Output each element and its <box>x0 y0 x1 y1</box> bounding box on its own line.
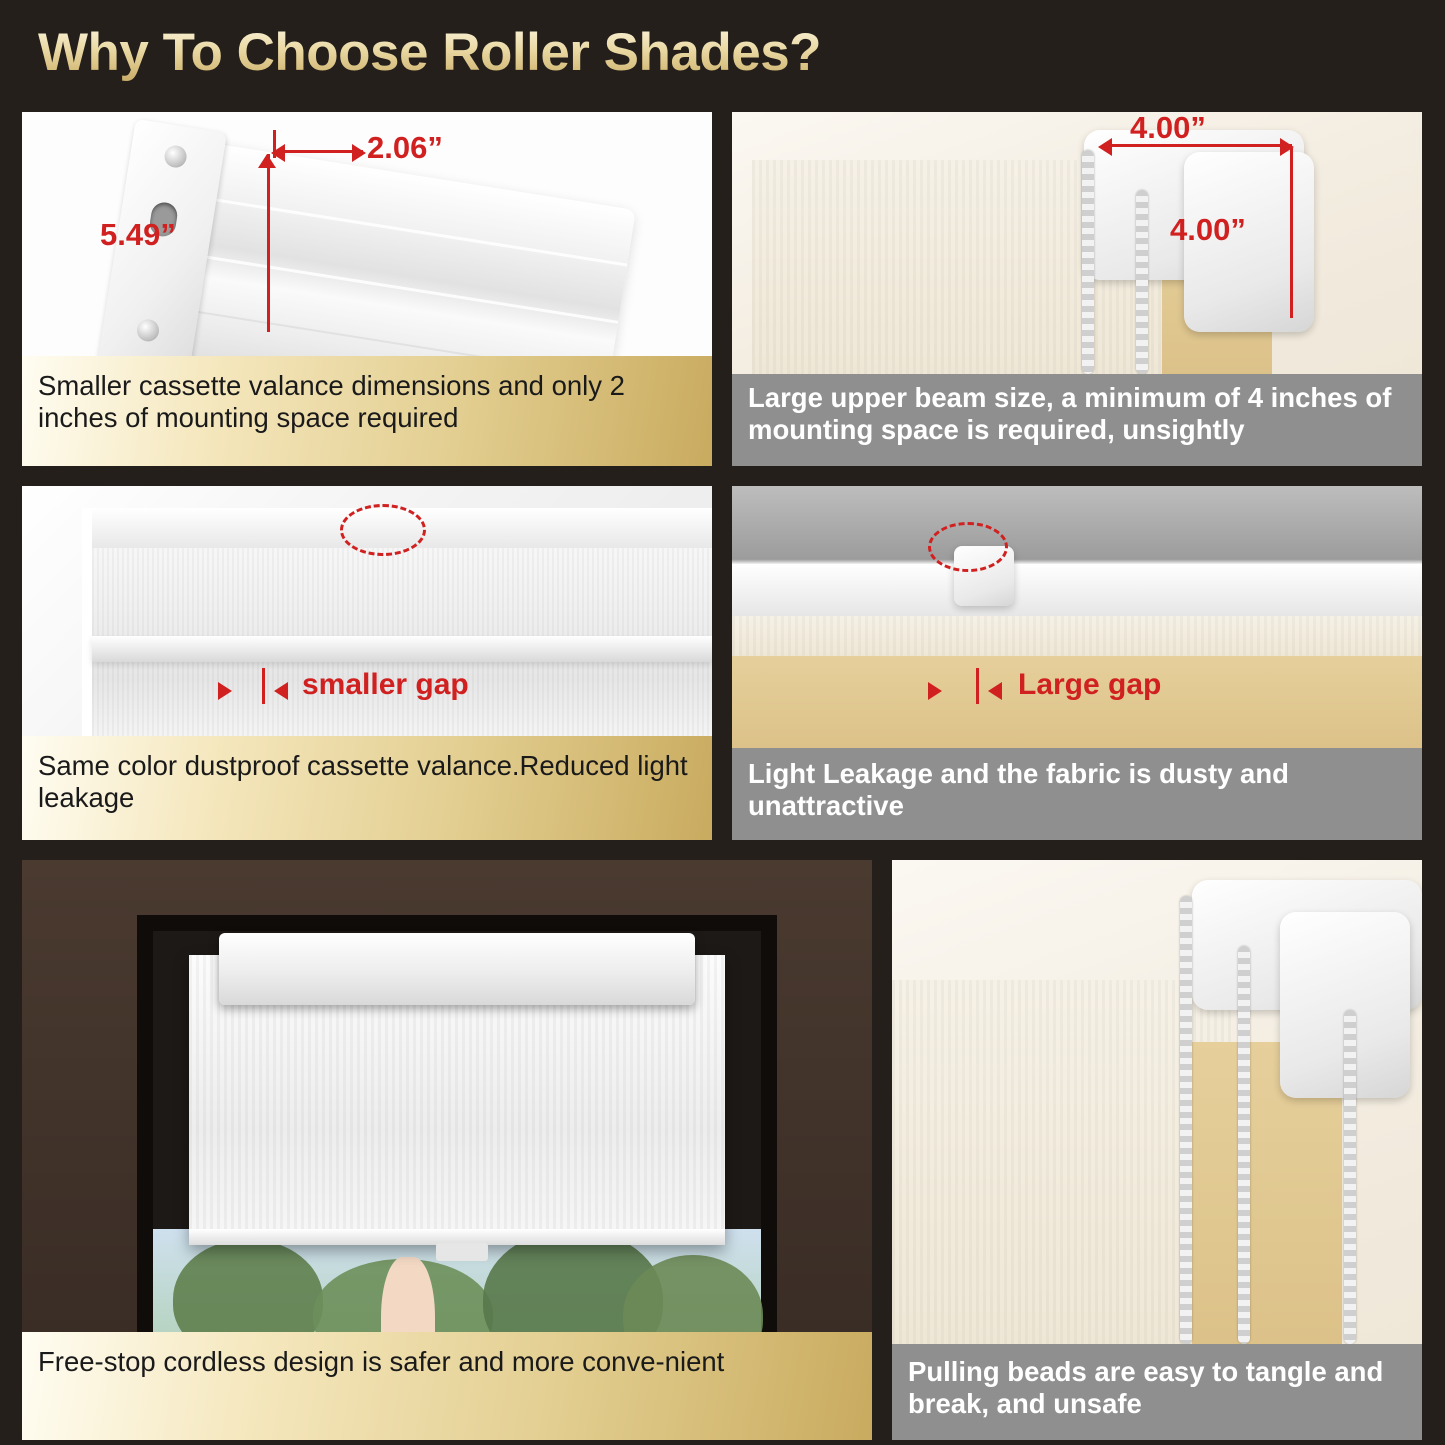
panel-6-caption: Pulling beads are easy to tangle and bre… <box>892 1344 1422 1440</box>
panel-6-image <box>892 860 1422 1344</box>
panel-5-image <box>22 860 872 1332</box>
gap-arrow-right <box>274 682 288 700</box>
panel-3-caption: Same color dustproof cassette valance.Re… <box>22 736 712 840</box>
panel-5-caption: Free-stop cordless design is safer and m… <box>22 1332 872 1440</box>
bead-chain-2 <box>1136 190 1148 374</box>
panel-pulling-beads: Pulling beads are easy to tangle and bre… <box>892 860 1422 1440</box>
panel-dustproof-valance: smaller gap Same color dustproof cassett… <box>22 486 712 840</box>
gap-arrow-left <box>928 682 942 700</box>
panel-large-beam: 4.00” 4.00” Large upper beam size, a min… <box>732 112 1422 466</box>
infographic-page: Why To Choose Roller Shades? <box>0 0 1445 1445</box>
bead-chain <box>1180 896 1192 1344</box>
panel-4-caption: Light Leakage and the fabric is dusty an… <box>732 748 1422 840</box>
gap-arrow-right <box>988 682 1002 700</box>
beam-height-label: 4.00” <box>1170 212 1246 248</box>
gap-label: Large gap <box>1018 668 1161 702</box>
panel-light-leakage: Large gap Light Leakage and the fabric i… <box>732 486 1422 840</box>
bead-chain-2 <box>1238 946 1250 1344</box>
panel-2-image: 4.00” 4.00” <box>732 112 1422 374</box>
gap-arrow-left <box>218 682 232 700</box>
bead-chain <box>1082 150 1094 374</box>
cassette-valance <box>219 933 695 1005</box>
window-frame <box>137 915 777 1332</box>
panel-3-image: smaller gap <box>22 486 712 736</box>
width-dimension-label: 2.06” <box>367 130 443 166</box>
width-dimension-line <box>275 150 363 153</box>
panel-1-caption: Smaller cassette valance dimensions and … <box>22 356 712 466</box>
highlight-oval <box>928 522 1008 572</box>
panel-1-image: 2.06” 5.49” <box>22 112 712 356</box>
beam-width-label: 4.00” <box>1130 112 1206 146</box>
page-title: Why To Choose Roller Shades? <box>38 22 821 83</box>
height-dimension-line <box>267 154 270 332</box>
roller-shade <box>189 955 725 1245</box>
panel-cordless-design: Free-stop cordless design is safer and m… <box>22 860 872 1440</box>
panel-4-image: Large gap <box>732 486 1422 748</box>
panel-cassette-dimensions: 2.06” 5.49” Smaller cassette valance dim… <box>22 112 712 466</box>
panel-2-caption: Large upper beam size, a minimum of 4 in… <box>732 374 1422 466</box>
height-dimension-label: 5.49” <box>100 217 176 253</box>
gap-label: smaller gap <box>302 668 469 702</box>
bead-chain-3 <box>1344 1010 1356 1344</box>
highlight-oval <box>340 504 426 556</box>
